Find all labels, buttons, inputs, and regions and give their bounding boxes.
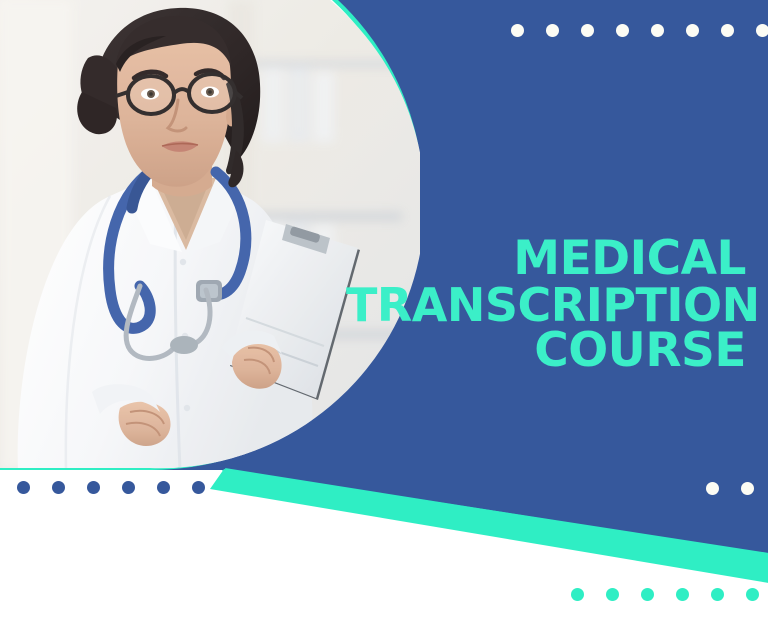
page-title: MEDICAL TRANSCRIPTION COURSE (346, 236, 746, 375)
dot-row-top (511, 24, 768, 37)
decor-dot-teal (606, 588, 619, 601)
dot-row-bottom-right (571, 588, 768, 601)
decor-dot-cream (721, 24, 734, 37)
decor-dot-teal (746, 588, 759, 601)
decor-dot-cream (616, 24, 629, 37)
decor-dot-blue (157, 481, 170, 494)
decor-dot-blue (17, 481, 30, 494)
decor-dot-cream (756, 24, 768, 37)
decor-dot-blue (52, 481, 65, 494)
headline-line-3: COURSE (346, 328, 746, 375)
decor-dot-teal (711, 588, 724, 601)
decor-dot-cream (546, 24, 559, 37)
decor-dot-blue (87, 481, 100, 494)
doctor-photo (0, 0, 420, 470)
decor-dot-cream (741, 482, 754, 495)
decor-dot-cream (581, 24, 594, 37)
decor-dot-cream (511, 24, 524, 37)
decor-dot-teal (641, 588, 654, 601)
dot-row-right-middle (706, 482, 768, 495)
decor-dot-cream (651, 24, 664, 37)
headline-line-2: TRANSCRIPTION (346, 283, 746, 329)
decor-dot-teal (571, 588, 584, 601)
dot-row-bottom-left (17, 481, 227, 494)
decor-dot-cream (686, 24, 699, 37)
course-banner: MEDICAL TRANSCRIPTION COURSE (0, 0, 768, 644)
headline-line-1: MEDICAL (346, 236, 746, 283)
decor-dot-cream (706, 482, 719, 495)
decor-dot-teal (676, 588, 689, 601)
decor-dot-blue (122, 481, 135, 494)
decor-dot-blue (192, 481, 205, 494)
